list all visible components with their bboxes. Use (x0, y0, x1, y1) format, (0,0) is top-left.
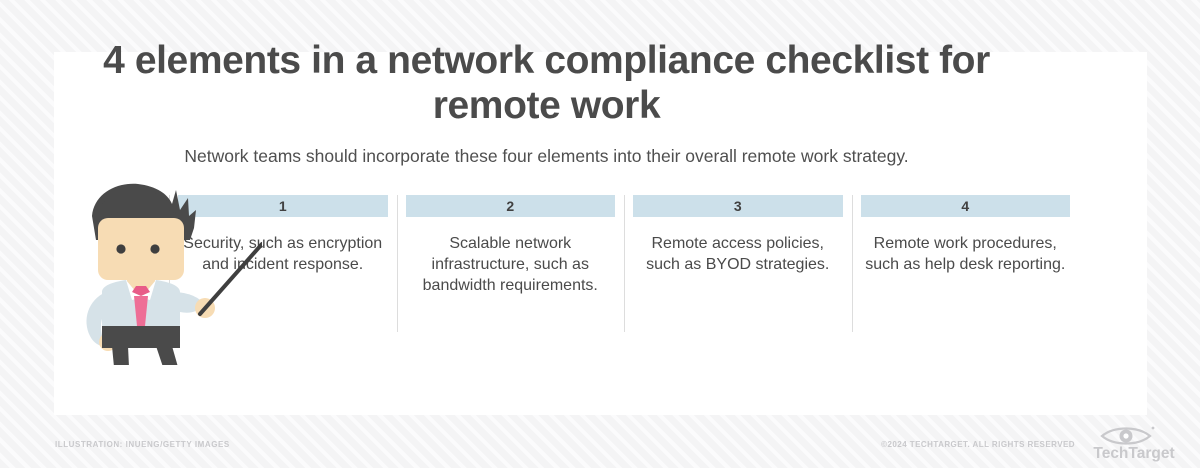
pointer-stick (200, 244, 262, 314)
waist-shape (102, 326, 180, 348)
checklist-item-4: 4 Remote work procedures, such as help d… (852, 195, 1080, 335)
page-subtitle: Network teams should incorporate these f… (80, 145, 1013, 168)
heading-block: 4 elements in a network compliance check… (80, 38, 1013, 168)
item-description-2: Scalable network infrastructure, such as… (406, 233, 616, 296)
face-shape (98, 218, 184, 280)
item-number-badge-2: 2 (406, 195, 616, 217)
checklist-item-2: 2 Scalable network infrastructure, such … (397, 195, 625, 335)
item-number-badge-3: 3 (633, 195, 843, 217)
page-title: 4 elements in a network compliance check… (80, 38, 1013, 128)
left-eye (116, 244, 125, 253)
copyright-text: ©2024 TECHTARGET. ALL RIGHTS RESERVED (881, 440, 1075, 449)
checklist-item-3: 3 Remote access policies, such as BYOD s… (624, 195, 852, 335)
eye-icon (1102, 427, 1154, 444)
checklist-columns: 1 Security, such as encryption and incid… (169, 195, 1079, 335)
item-description-3: Remote access policies, such as BYOD str… (633, 233, 843, 275)
item-description-4: Remote work procedures, such as help des… (861, 233, 1071, 275)
businessman-with-pointer-illustration (72, 180, 262, 365)
left-leg (112, 346, 130, 365)
item-number-badge-4: 4 (861, 195, 1071, 217)
right-leg (156, 346, 184, 365)
illustration-credit: ILLUSTRATION: INUENG/GETTY IMAGES (55, 440, 230, 449)
techtarget-logo: TechTarget (1082, 424, 1186, 462)
right-eye (150, 244, 159, 253)
logo-wordmark: TechTarget (1093, 445, 1174, 462)
